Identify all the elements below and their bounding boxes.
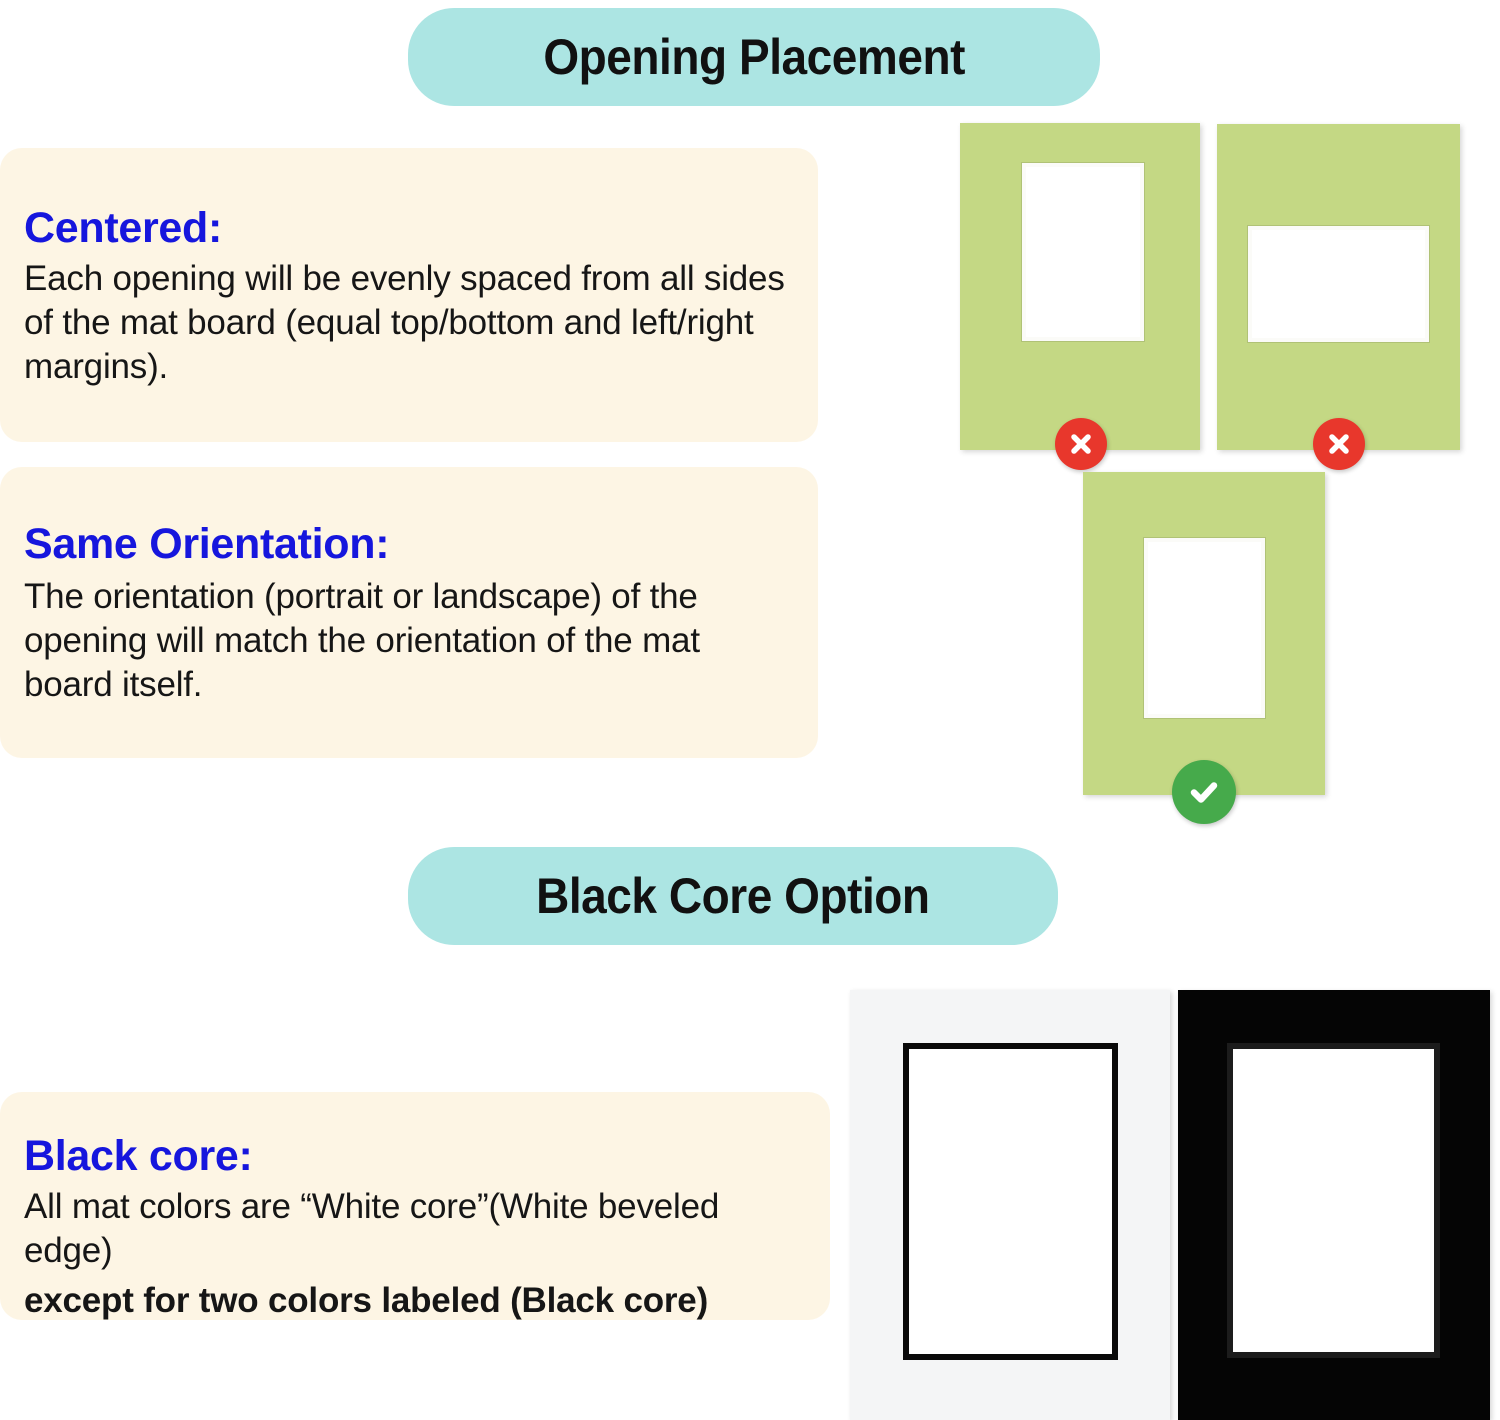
mat-diagram-off-center: [960, 123, 1200, 450]
centered-info-card: Centered: Each opening will be evenly sp…: [0, 148, 818, 442]
white-mat-black-core-sample: [850, 990, 1170, 1420]
infographic-page: Opening Placement Centered: Each opening…: [0, 0, 1500, 1420]
x-mark-icon: [1055, 418, 1107, 470]
black-core-description-line-2: except for two colors labeled (Black cor…: [24, 1279, 806, 1323]
opening-placement-title: Opening Placement: [543, 32, 965, 82]
mat-diagram-wrong-orientation: [1217, 124, 1460, 450]
mat-opening-portrait-centered: [1144, 538, 1265, 718]
same-orientation-heading: Same Orientation:: [24, 522, 794, 567]
same-orientation-description: The orientation (portrait or landscape) …: [24, 575, 794, 707]
opening-placement-banner: Opening Placement: [408, 8, 1100, 106]
black-mat-black-core-sample: [1178, 990, 1490, 1420]
x-mark-icon: [1313, 418, 1365, 470]
centered-heading: Centered:: [24, 206, 794, 251]
mat-opening-portrait-offcenter: [1022, 163, 1144, 341]
black-core-heading: Black core:: [24, 1134, 806, 1179]
black-core-description-line-1: All mat colors are “White core”(White be…: [24, 1185, 806, 1273]
white-mat-opening: [903, 1043, 1118, 1360]
black-core-info-card: Black core: All mat colors are “White co…: [0, 1092, 830, 1320]
mat-diagram-correct-centered: [1083, 472, 1325, 795]
black-mat-opening: [1227, 1043, 1440, 1358]
black-core-option-banner: Black Core Option: [408, 847, 1058, 945]
mat-opening-landscape: [1248, 226, 1429, 342]
black-core-option-title: Black Core Option: [536, 871, 929, 921]
centered-description: Each opening will be evenly spaced from …: [24, 257, 794, 389]
check-mark-icon: [1172, 760, 1236, 824]
same-orientation-info-card: Same Orientation: The orientation (portr…: [0, 467, 818, 758]
